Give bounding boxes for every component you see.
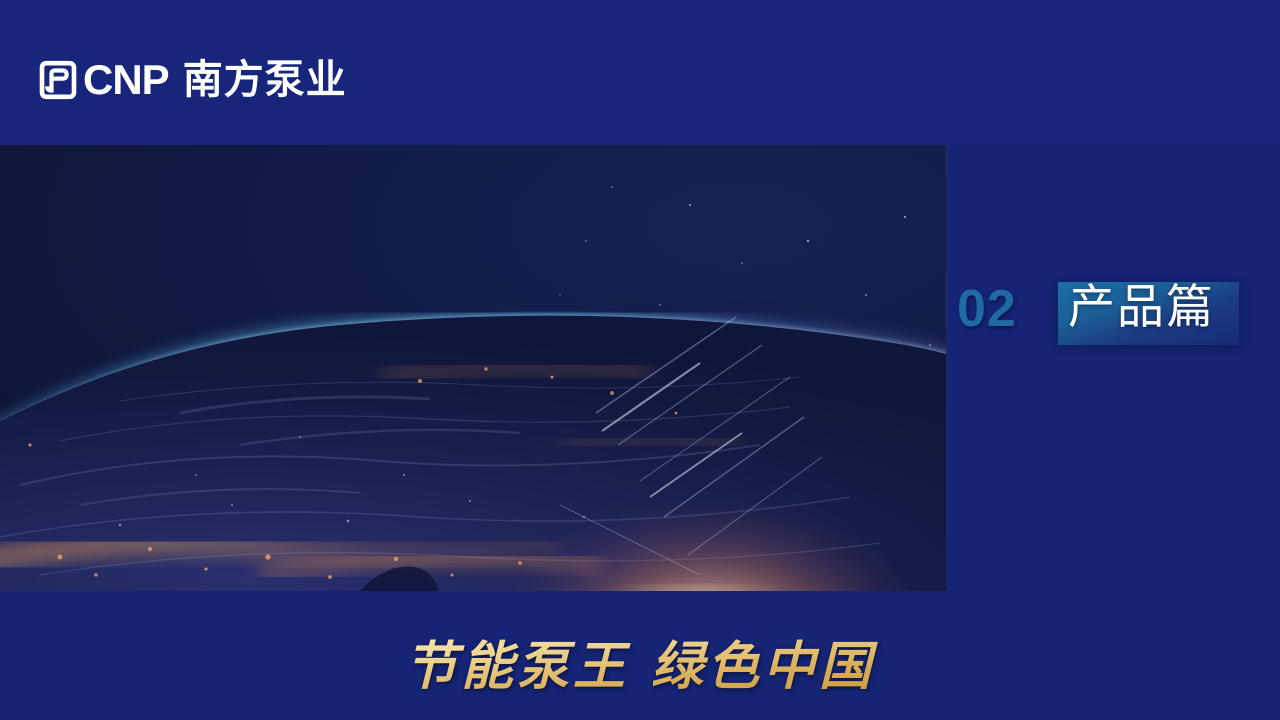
- company-logo: CNP 南方泵业: [38, 54, 347, 106]
- company-slogan: 节能泵王 绿色中国: [0, 636, 1280, 698]
- image-edge-divider: [946, 145, 950, 591]
- section-title: 产品篇: [1068, 278, 1248, 338]
- earth-from-space-image: [0, 145, 946, 591]
- earth-illustration: [0, 145, 946, 591]
- section-number: 02: [957, 283, 1017, 335]
- presentation-slide: CNP 南方泵业: [0, 0, 1280, 720]
- logo-brand-latin: CNP: [83, 59, 169, 101]
- cnp-pump-logo-mark-icon: [38, 60, 78, 100]
- logo-brand-chinese: 南方泵业: [183, 60, 347, 100]
